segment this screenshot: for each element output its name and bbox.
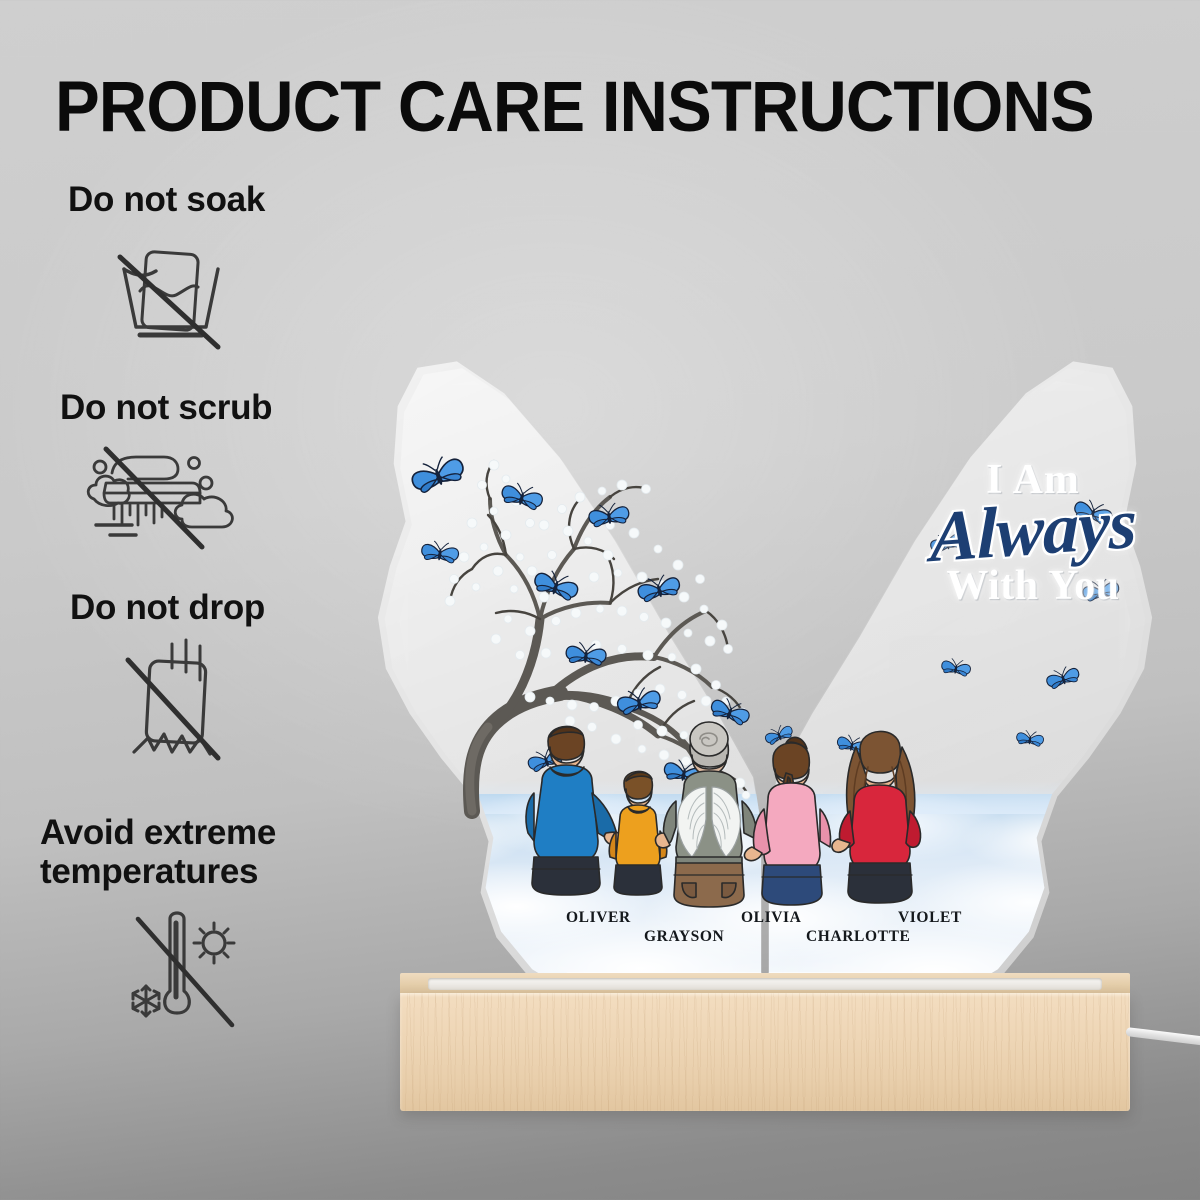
- family-name-violet: VIOLET: [898, 909, 962, 927]
- family-name-grayson: GRAYSON: [644, 928, 724, 946]
- care-label: Avoid extreme temperatures: [40, 813, 360, 891]
- no-drop-plaque-icon: [114, 634, 360, 779]
- quote-block: I Am Always With You: [918, 459, 1148, 607]
- care-item-do-not-drop: Do not drop: [0, 588, 360, 778]
- figure-violet: [832, 731, 921, 903]
- care-item-avoid-extreme-temperatures: Avoid extreme temperatures: [0, 813, 360, 1042]
- care-item-do-not-scrub: Do not scrub: [0, 388, 360, 558]
- base-acrylic-slot: [428, 978, 1102, 990]
- family-name-olivia: OLIVIA: [741, 909, 801, 927]
- product-led-night-light: I Am Always With You: [370, 355, 1160, 1155]
- wooden-led-base: [400, 973, 1130, 1113]
- no-soak-washtub-icon: [106, 225, 360, 360]
- figure-olivia: [655, 722, 756, 907]
- figure-grayson: [609, 771, 667, 895]
- care-label: Do not drop: [70, 588, 360, 627]
- no-extreme-temperature-thermometer-icon: [114, 897, 360, 1042]
- quote-line-2: Always: [930, 490, 1136, 571]
- base-front-face: [400, 993, 1130, 1111]
- care-item-do-not-soak: Do not soak: [0, 180, 360, 360]
- family-name-charlotte: CHARLOTTE: [806, 928, 910, 946]
- acrylic-plaque: I Am Always With You: [370, 355, 1160, 995]
- no-scrub-brush-icon: [80, 433, 360, 558]
- figure-oliver: [526, 726, 626, 895]
- care-label: Do not soak: [68, 180, 360, 219]
- care-label: Do not scrub: [60, 388, 360, 427]
- figure-charlotte: [744, 737, 830, 905]
- family-name-oliver: OLIVER: [566, 909, 631, 927]
- page-title: PRODUCT CARE INSTRUCTIONS: [55, 72, 1109, 143]
- care-instruction-list: Do not soak Do not scrub: [0, 180, 360, 1042]
- usb-power-cable: [1125, 1027, 1200, 1051]
